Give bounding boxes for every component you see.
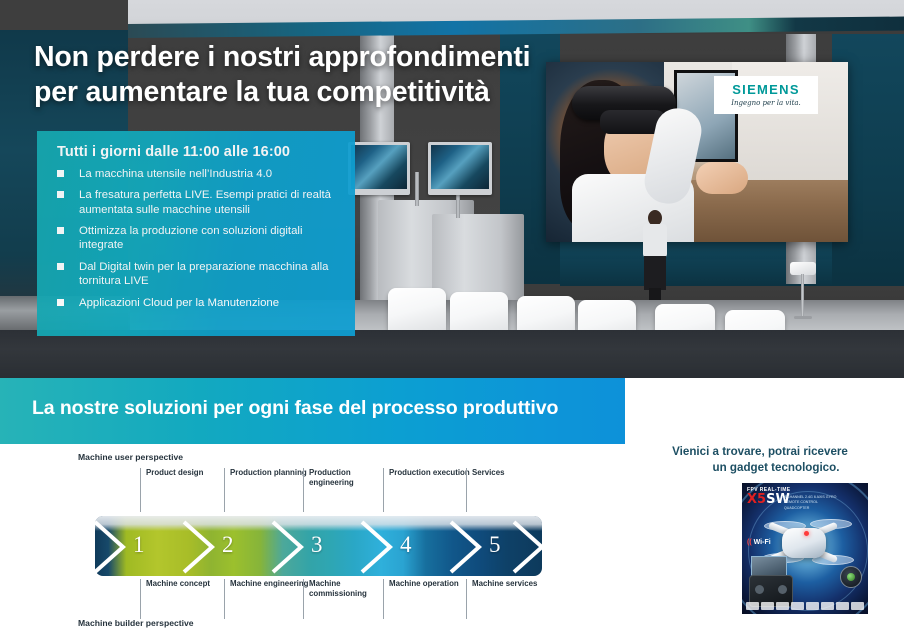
stage-top-label-5: Services — [466, 468, 552, 512]
drone-feature-badge — [840, 566, 862, 588]
monitor-1 — [348, 142, 410, 195]
diagram-top-perspective-label: Machine user perspective — [78, 452, 183, 462]
bullet-square-icon — [57, 299, 64, 306]
section-banner: La nostre soluzioni per ogni fase del pr… — [0, 378, 625, 444]
siemens-logo: SIEMENS Ingegno per la vita. — [714, 76, 818, 114]
stage-top-label-3: Production engineering — [303, 468, 393, 512]
process-diagram: Machine user perspective Machine builder… — [0, 444, 625, 635]
schedule-panel: Tutti i giorni dalle 11:00 alle 16:00 La… — [37, 131, 355, 336]
promo-line-1: Vienici a trovare, potrai ricevere — [626, 444, 894, 460]
headline-line-2: per aumentare la tua competitività — [34, 75, 594, 110]
drone-feature-icon-row — [746, 600, 864, 611]
siemens-wordmark: SIEMENS — [732, 83, 800, 96]
list-item: La fresatura perfetta LIVE. Esempi prati… — [57, 188, 342, 217]
drone-spec-text: 4 CHANNEL 2.4G 6 AXIS GYRO REMOTE CONTRO… — [784, 495, 842, 511]
drone-wifi-label: Wi-Fi — [754, 539, 771, 546]
siemens-tagline: Ingegno per la vita. — [731, 99, 801, 107]
stage-top-label-2: Production planning — [224, 468, 312, 512]
kiosk-stand-2 — [432, 214, 524, 302]
page-title: Non perdere i nostri approfondimenti per… — [34, 40, 594, 110]
promo-text: Vienici a trovare, potrai ricevere un ga… — [626, 444, 894, 476]
list-item-label: La macchina utensile nell’Industria 4.0 — [79, 168, 272, 180]
list-item: Ottimizza la produzione con soluzioni di… — [57, 224, 342, 253]
stage-number-1: 1 — [133, 532, 145, 558]
list-item-label: Dal Digital twin per la preparazione mac… — [79, 261, 328, 287]
poster-root: SIEMENS Ingegno per la vita. Non perdere… — [0, 0, 904, 635]
list-item: Dal Digital twin per la preparazione mac… — [57, 260, 342, 289]
stage-bottom-label-4: Machine operation — [383, 579, 473, 619]
stage-top-label-4: Production execution — [383, 468, 473, 512]
list-item-label: La fresatura perfetta LIVE. Esempi prati… — [79, 189, 331, 215]
stage-number-3: 3 — [311, 532, 323, 558]
drone-model-x5: X5 — [747, 492, 766, 507]
drone-product-image: FPV REAL-TIME X5SW 4 CHANNEL 2.4G 6 AXIS… — [742, 483, 868, 614]
monitor-2 — [428, 142, 492, 195]
bullet-square-icon — [57, 263, 64, 270]
stage-number-4: 4 — [400, 532, 412, 558]
headline-line-1: Non perdere i nostri approfondimenti — [34, 40, 594, 75]
drone-wifi-badge: (( Wi-Fi — [747, 539, 771, 546]
promo-line-2: un gadget tecnologico. — [626, 460, 894, 476]
list-item-label: Applicazioni Cloud per la Manutenzione — [79, 297, 279, 309]
section-banner-title: La nostre soluzioni per ogni fase del pr… — [32, 397, 558, 420]
bullet-square-icon — [57, 170, 64, 177]
list-item-label: Ottimizza la produzione con soluzioni di… — [79, 225, 303, 251]
stage-bottom-label-3: Machine commissioning — [303, 579, 393, 619]
stage-base — [0, 330, 904, 378]
stage-number-5: 5 — [489, 532, 501, 558]
stage-bottom-label-5: Machine services — [466, 579, 552, 619]
hero-image: SIEMENS Ingegno per la vita. Non perdere… — [0, 0, 904, 378]
list-item: La macchina utensile nell’Industria 4.0 — [57, 167, 342, 181]
monitor-pole-1 — [415, 172, 419, 206]
diagram-bottom-perspective-label: Machine builder perspective — [78, 618, 194, 628]
stage-top-label-1: Product design — [140, 468, 228, 512]
bullet-square-icon — [57, 191, 64, 198]
stage-bottom-label-2: Machine engineering — [224, 579, 312, 619]
schedule-list: La macchina utensile nell’Industria 4.0 … — [57, 167, 342, 317]
stage-number-2: 2 — [222, 532, 234, 558]
vr-user-hand — [696, 162, 748, 194]
schedule-title: Tutti i giorni dalle 11:00 alle 16:00 — [57, 144, 290, 160]
process-chevron-bar: 1 2 3 4 5 — [95, 516, 542, 576]
stage-bottom-label-1: Machine concept — [140, 579, 228, 619]
list-item: Applicazioni Cloud per la Manutenzione — [57, 296, 342, 310]
drone-led-icon — [804, 531, 809, 536]
bullet-square-icon — [57, 227, 64, 234]
